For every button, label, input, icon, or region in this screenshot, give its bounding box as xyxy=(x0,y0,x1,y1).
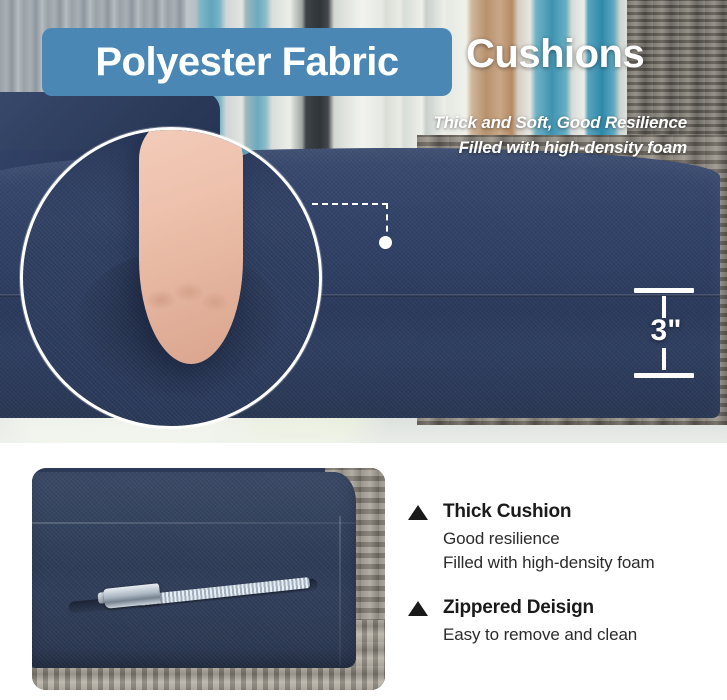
feature-line: Filled with high-density foam xyxy=(443,551,718,575)
feature-title: Zippered Deisign xyxy=(443,597,594,619)
title-badge: Polyester Fabric xyxy=(42,28,452,96)
feature-title: Thick Cushion xyxy=(443,501,571,523)
hero-subtitle-line2: Filled with high-density foam xyxy=(459,138,687,158)
bottom-section: Thick Cushion Good resilience Filled wit… xyxy=(0,443,727,700)
feature-heading: Zippered Deisign xyxy=(408,597,718,619)
feature-heading: Thick Cushion xyxy=(408,501,718,523)
measure-cap-bottom xyxy=(634,373,694,378)
feature-list: Thick Cushion Good resilience Filled wit… xyxy=(408,501,718,669)
product-infographic: Polyester Fabric Cushions Thick and Soft… xyxy=(0,0,727,700)
zipper-cushion-texture xyxy=(32,472,356,668)
magnifier-circle xyxy=(20,127,322,429)
feature-description: Easy to remove and clean xyxy=(443,623,718,647)
feature-description: Good resilience Filled with high-density… xyxy=(443,527,718,575)
thickness-measurement: 3" xyxy=(634,288,696,378)
feature-item: Thick Cushion Good resilience Filled wit… xyxy=(408,501,718,575)
callout-leader-horizontal xyxy=(312,203,388,205)
triangle-bullet-icon xyxy=(408,505,428,520)
feature-line: Good resilience xyxy=(443,527,718,551)
feature-line: Easy to remove and clean xyxy=(443,623,718,647)
hero-subtitle-line1: Thick and Soft, Good Resilience xyxy=(433,113,687,133)
knuckles-shading xyxy=(143,280,239,366)
feature-item: Zippered Deisign Easy to remove and clea… xyxy=(408,597,718,647)
title-plain-label: Cushions xyxy=(466,34,644,74)
zipper-cushion-side-seam xyxy=(339,516,341,666)
callout-dot-marker xyxy=(379,236,392,249)
triangle-bullet-icon xyxy=(408,601,428,616)
measure-tick-bottom xyxy=(662,348,666,370)
title-badge-label: Polyester Fabric xyxy=(95,42,398,82)
measure-label: 3" xyxy=(636,316,696,346)
zipper-cushion xyxy=(32,472,356,668)
hero-photo: Polyester Fabric Cushions Thick and Soft… xyxy=(0,0,727,443)
zipper-cushion-top-seam xyxy=(32,522,356,524)
measure-cap-top xyxy=(634,288,694,293)
zipper-photo xyxy=(32,468,385,690)
